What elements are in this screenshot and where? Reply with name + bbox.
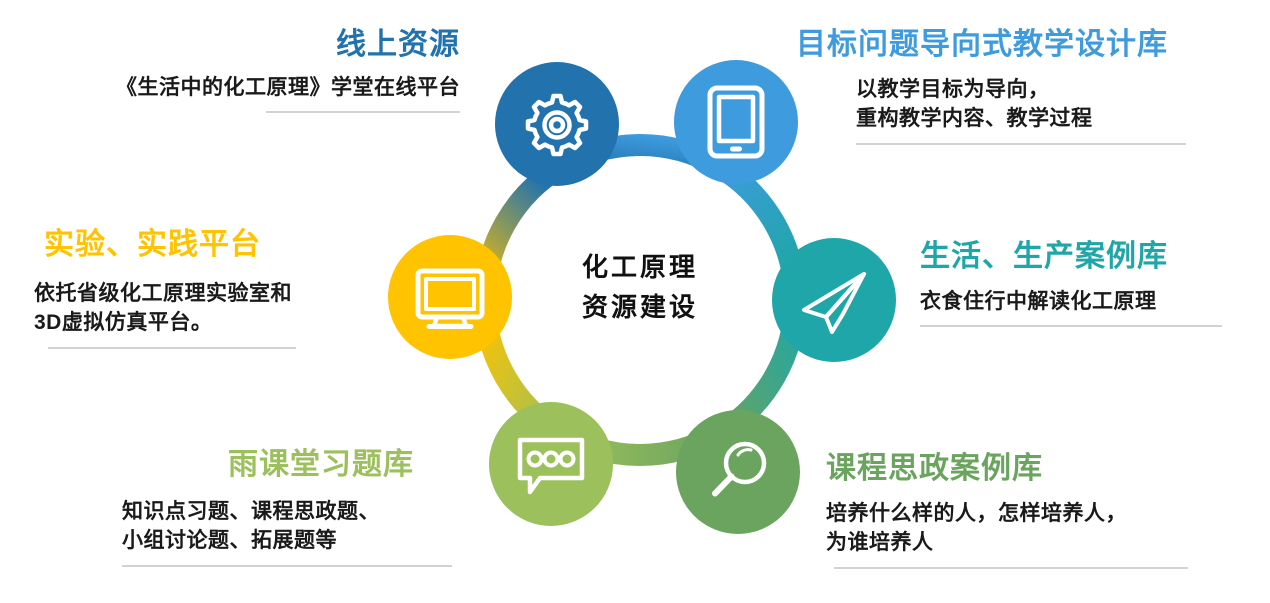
desc-case-library: 衣食住行中解读化工原理	[920, 287, 1250, 317]
node-circle-quiz-bank[interactable]	[489, 402, 613, 526]
desc-teaching-design: 以教学目标为导向， 重构教学内容、教学过程	[856, 75, 1242, 135]
desc-online-resources: 《生活中的化工原理》学堂在线平台	[8, 73, 460, 103]
text-block-quiz-bank: 雨课堂习题库 知识点习题、课程思政题、 小组讨论题、拓展题等	[122, 448, 460, 567]
desc-line: 《生活中的化工原理》学堂在线平台	[8, 73, 460, 103]
center-title-line1: 化工原理	[540, 247, 740, 287]
desc-ideology-cases: 培养什么样的人，怎样培养人， 为谁培养人	[826, 499, 1226, 559]
node-circle-teaching-design[interactable]	[674, 60, 798, 184]
text-block-ideology-cases: 课程思政案例库 培养什么样的人，怎样培养人， 为谁培养人	[826, 452, 1226, 569]
desc-line: 知识点习题、课程思政题、	[122, 497, 460, 527]
text-block-online-resources: 线上资源 《生活中的化工原理》学堂在线平台	[8, 28, 460, 113]
gear-icon	[528, 96, 586, 154]
divider-ideology-cases	[834, 567, 1188, 569]
node-ideology-cases[interactable]	[676, 410, 800, 534]
arc-online-to-design	[563, 145, 718, 166]
text-block-case-library: 生活、生产案例库 衣食住行中解读化工原理	[920, 240, 1250, 327]
desc-line: 以教学目标为导向，	[856, 75, 1242, 105]
node-case-library[interactable]	[772, 238, 896, 362]
tablet-icon	[710, 88, 762, 156]
chat-bubble-icon	[520, 440, 582, 492]
paper-plane-icon	[804, 274, 864, 332]
desc-line: 培养什么样的人，怎样培养人，	[826, 499, 1226, 529]
desc-line: 小组讨论题、拓展题等	[122, 526, 460, 556]
divider-quiz-bank	[122, 565, 452, 567]
desc-lab-platform: 依托省级化工原理实验室和 3D虚拟仿真平台。	[34, 279, 370, 339]
divider-teaching-design	[856, 143, 1186, 145]
magnifier-icon	[715, 444, 764, 494]
title-teaching-design: 目标问题导向式教学设计库	[796, 28, 1242, 63]
arc-ideology-to-quiz	[563, 434, 718, 455]
text-block-teaching-design: 目标问题导向式教学设计库 以教学目标为导向， 重构教学内容、教学过程	[796, 28, 1242, 145]
desc-line: 重构教学内容、教学过程	[856, 104, 1242, 134]
title-quiz-bank: 雨课堂习题库	[228, 448, 460, 483]
node-circle-lab-platform[interactable]	[388, 235, 512, 359]
node-quiz-bank[interactable]	[489, 402, 613, 526]
center-title: 化工原理 资源建设	[540, 247, 740, 328]
desc-line: 依托省级化工原理实验室和	[34, 279, 370, 309]
title-case-library: 生活、生产案例库	[920, 240, 1250, 275]
divider-online-resources	[266, 111, 460, 113]
desc-quiz-bank: 知识点习题、课程思政题、 小组讨论题、拓展题等	[122, 497, 460, 557]
desc-line: 3D虚拟仿真平台。	[34, 308, 370, 338]
title-ideology-cases: 课程思政案例库	[826, 452, 1226, 487]
node-circle-case-library[interactable]	[772, 238, 896, 362]
center-title-line2: 资源建设	[540, 287, 740, 327]
desc-line: 衣食住行中解读化工原理	[920, 287, 1250, 317]
divider-case-library	[920, 325, 1222, 327]
node-teaching-design[interactable]	[674, 60, 798, 184]
infographic-diagram: 化工原理 资源建设 线上资源 《生活中的化工原理》学堂在线平台 目标问题导向式教…	[0, 0, 1270, 603]
text-block-lab-platform: 实验、实践平台 依托省级化工原理实验室和 3D虚拟仿真平台。	[34, 228, 370, 349]
title-lab-platform: 实验、实践平台	[44, 228, 370, 263]
monitor-icon	[418, 271, 482, 327]
node-online-resources[interactable]	[495, 62, 619, 186]
node-circle-online-resources[interactable]	[495, 62, 619, 186]
divider-lab-platform	[48, 347, 296, 349]
desc-line: 为谁培养人	[826, 528, 1226, 558]
node-circle-ideology-cases[interactable]	[676, 410, 800, 534]
title-online-resources: 线上资源	[8, 28, 460, 63]
node-lab-platform[interactable]	[388, 235, 512, 359]
